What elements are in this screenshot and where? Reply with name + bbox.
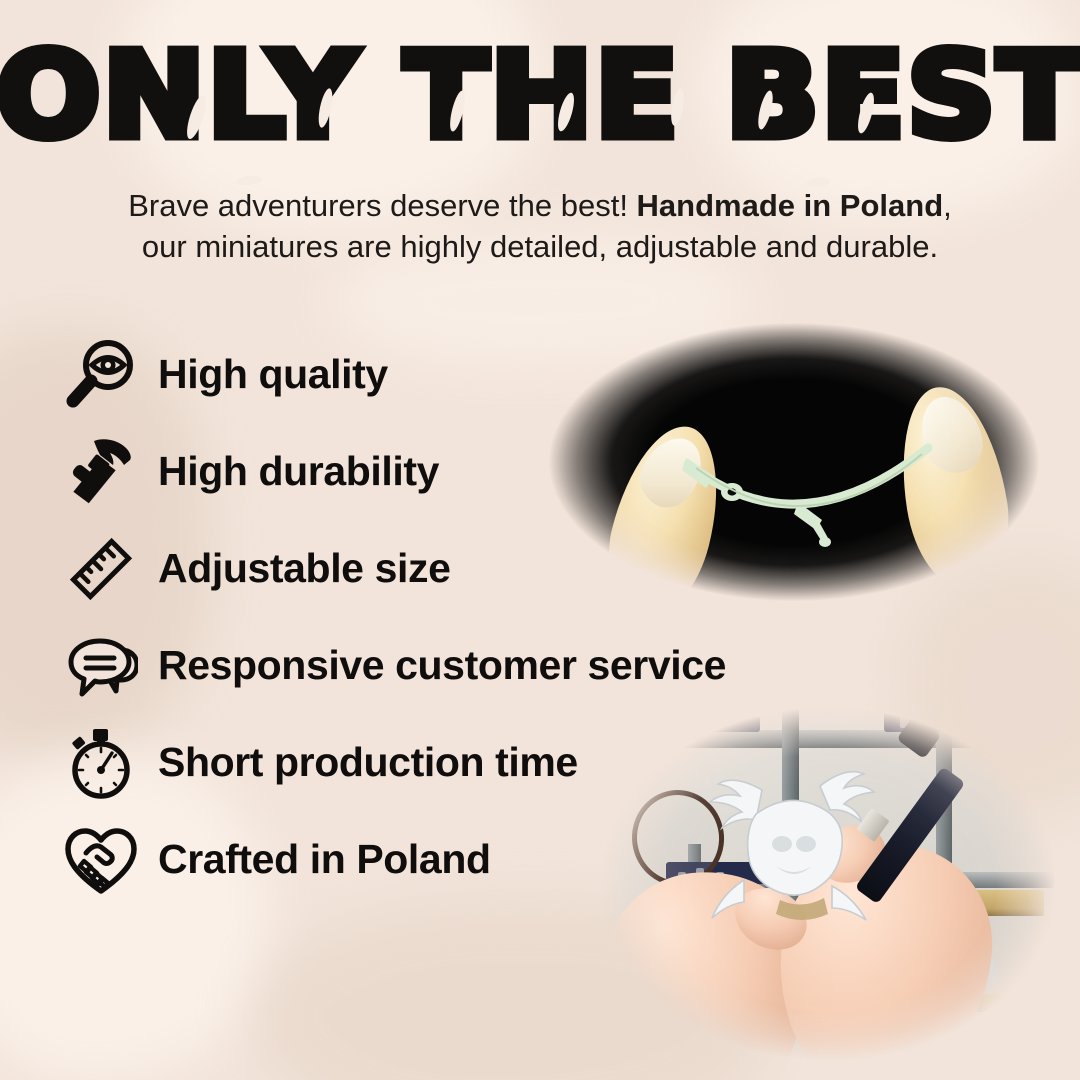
magnifier-eye-icon (62, 336, 140, 414)
handshake-heart-icon (62, 821, 140, 899)
feature-label: High durability (158, 448, 439, 495)
subtitle-line1-prefix: Brave adventurers deserve the best! (128, 188, 636, 223)
photo-workshop-painting (584, 694, 1054, 1074)
photo-content (536, 306, 1052, 618)
poster-canvas: ONLY THE BEST Brave adventurers deserve … (0, 0, 1080, 1080)
ruler-icon (62, 530, 140, 608)
speech-bubbles-icon (62, 627, 140, 705)
feature-label: Adjustable size (158, 545, 450, 592)
subtitle-line1-suffix: , (943, 188, 952, 223)
dragon-miniature (584, 694, 1054, 1074)
miniature-part (536, 306, 1052, 618)
photo-flexible-miniature (536, 306, 1052, 618)
subtitle-line2: our miniatures are highly detailed, adju… (142, 229, 938, 264)
subtitle: Brave adventurers deserve the best! Hand… (70, 186, 1010, 268)
feature-label: Crafted in Poland (158, 836, 491, 883)
photo-content (584, 694, 1054, 1074)
page-title: ONLY THE BEST (0, 36, 1080, 154)
feature-label: High quality (158, 351, 388, 398)
stopwatch-icon (62, 724, 140, 802)
feature-label: Responsive customer service (158, 642, 726, 689)
feature-label: Short production time (158, 739, 578, 786)
headline-container: ONLY THE BEST (0, 36, 1080, 154)
headline-gloss-8 (236, 174, 263, 187)
hammer-icon (62, 433, 140, 511)
subtitle-highlight: Handmade in Poland (637, 188, 944, 223)
